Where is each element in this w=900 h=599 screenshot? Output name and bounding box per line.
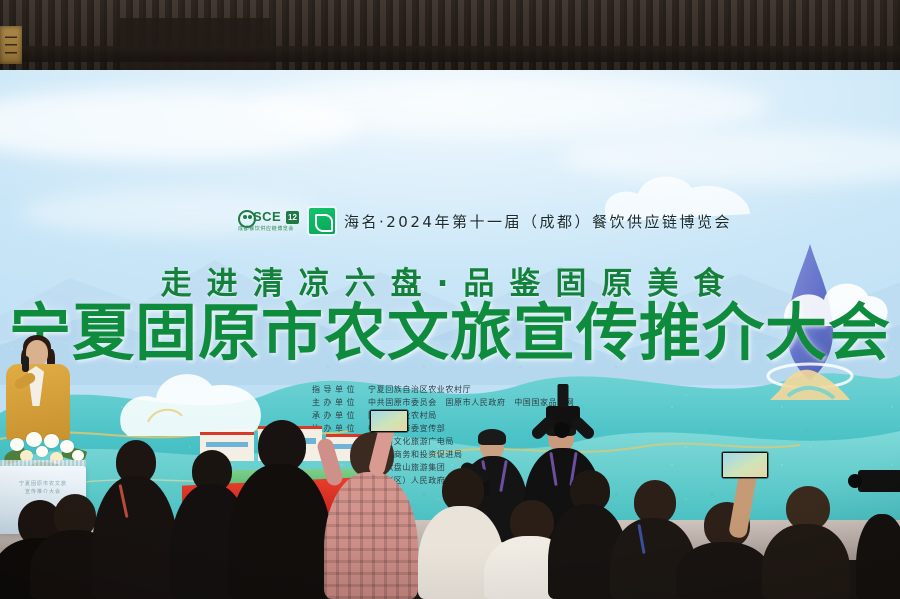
photographer-hair	[478, 429, 506, 445]
credit-row: 指导单位 宁夏回族自治区农业农村厅	[312, 383, 642, 396]
credit-label: 指导单位	[312, 383, 368, 396]
flower	[36, 446, 48, 457]
flower	[44, 434, 59, 448]
audience-member-plaid	[324, 424, 418, 599]
ceiling-beam	[0, 46, 900, 62]
sce-sub-label: 成都餐饮供应链博览会	[238, 225, 294, 232]
podium-sign-line1: 宁夏固原市农文旅	[8, 480, 78, 488]
sce-edition-badge: 12	[286, 211, 299, 224]
flower	[10, 438, 24, 451]
audience-shoulders	[676, 542, 772, 599]
camera-flash	[558, 384, 569, 407]
audience-member	[92, 440, 178, 599]
microphone-icon	[22, 356, 29, 372]
expo-brand-row: SCE 12 成都餐饮供应链博览会 海名·2024年第十一届（成都）餐饮供应链博…	[238, 206, 708, 236]
audience-shoulders	[92, 476, 178, 599]
smartphone-icon	[370, 410, 408, 432]
host-head	[26, 340, 48, 366]
sce-wordmark: SCE	[253, 209, 281, 224]
audience-member-phone	[676, 498, 772, 599]
audience-member	[762, 486, 850, 599]
cloud-band	[250, 76, 770, 136]
audience-member	[228, 420, 332, 599]
conference-photo: SCE 12 成都餐饮供应链博览会 海名·2024年第十一届（成都）餐饮供应链博…	[0, 0, 900, 599]
camera-lens	[554, 422, 570, 438]
credit-values: 宁夏回族自治区农业农村厅	[368, 383, 642, 396]
video-camera-icon	[858, 470, 900, 492]
audience-shoulders	[324, 472, 418, 599]
audience-shoulders	[762, 524, 850, 599]
operator-torso	[856, 514, 900, 599]
audience-shoulders	[228, 464, 332, 599]
expo-brand-text: 海名·2024年第十一届（成都）餐饮供应链博览会	[344, 211, 732, 232]
green-square-logo-icon	[309, 208, 335, 234]
flower	[60, 440, 74, 453]
sce-logo-icon: SCE 12 成都餐饮供应链博览会	[238, 209, 300, 233]
flower	[26, 432, 42, 447]
credit-label: 主办单位	[312, 396, 368, 409]
camera-lens	[848, 474, 862, 488]
video-camera-operator	[856, 470, 900, 599]
credit-value: 宁夏回族自治区农业农村厅	[368, 383, 642, 396]
event-main-title: 宁夏固原市农文旅宣传推介大会	[0, 302, 900, 364]
hall-entrance-sign-icon	[0, 26, 22, 64]
smartphone-icon	[722, 452, 768, 478]
ceiling-dark-panel	[120, 18, 270, 72]
